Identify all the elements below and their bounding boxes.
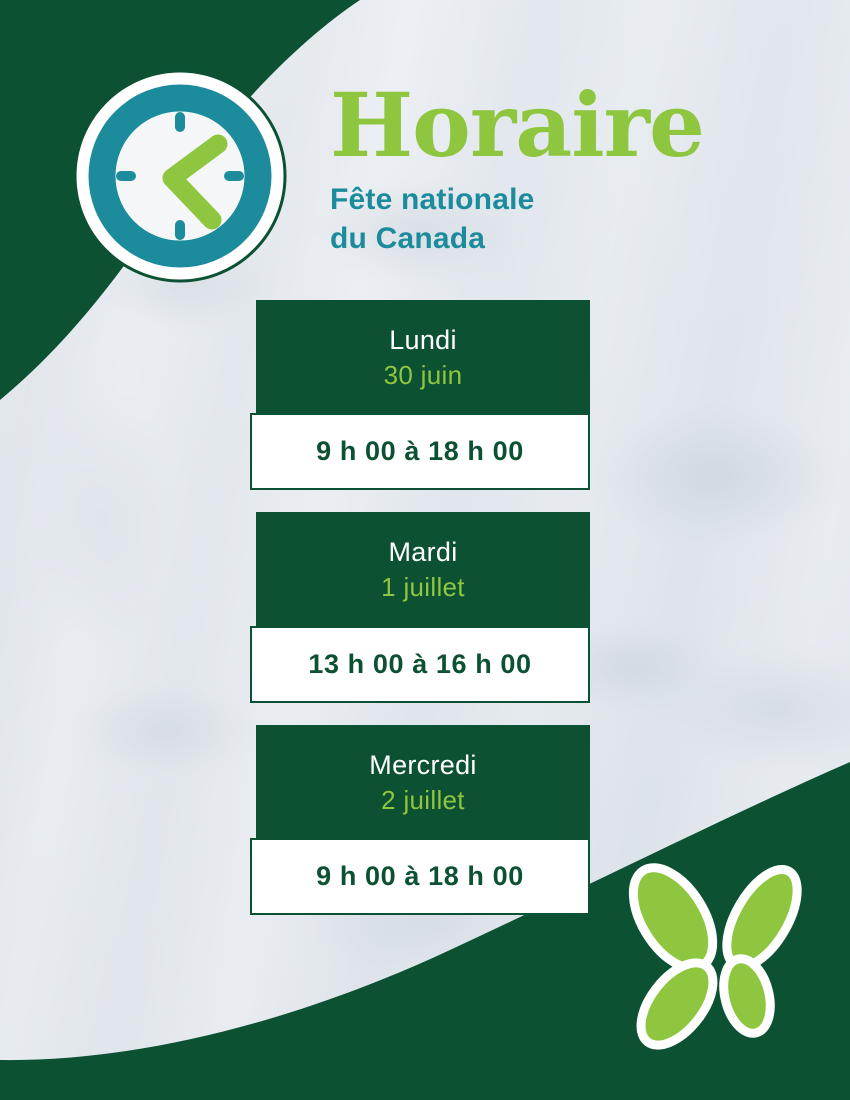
schedule-date-label: 30 juin: [266, 359, 580, 392]
schedule-hours-label: 13 h 00 à 16 h 00: [250, 626, 590, 703]
butterfly-logo-icon: [614, 856, 832, 1064]
butterfly-logo-svg: [614, 856, 832, 1064]
clock-icon: [72, 68, 288, 284]
butterfly-wing-upper-left: [617, 856, 729, 982]
schedule-day-label: Mercredi: [266, 749, 580, 782]
page-subtitle-line2: du Canada: [330, 219, 800, 259]
schedule-card-header: Lundi 30 juin: [256, 300, 590, 413]
clock-icon-svg: [72, 68, 288, 284]
schedule-hours-label: 9 h 00 à 18 h 00: [250, 413, 590, 490]
page-subtitle: Fête nationale du Canada: [330, 180, 800, 260]
butterfly-wing-upper-right: [712, 858, 811, 978]
poster-canvas: Horaire Fête nationale du Canada Lundi 3…: [0, 0, 850, 1100]
schedule-hours-label: 9 h 00 à 18 h 00: [250, 838, 590, 915]
schedule-card-header: Mercredi 2 juillet: [256, 725, 590, 838]
page-subtitle-line1: Fête nationale: [330, 180, 800, 220]
schedule-card: Mercredi 2 juillet 9 h 00 à 18 h 00: [250, 725, 590, 915]
schedule-card: Lundi 30 juin 9 h 00 à 18 h 00: [250, 300, 590, 490]
butterfly-wing-lower-right: [716, 954, 777, 1038]
schedule-date-label: 1 juillet: [266, 571, 580, 604]
poster-header: Horaire Fête nationale du Canada: [0, 0, 850, 290]
schedule-list: Lundi 30 juin 9 h 00 à 18 h 00 Mardi 1 j…: [0, 300, 850, 937]
title-block: Horaire Fête nationale du Canada: [330, 84, 800, 259]
schedule-card: Mardi 1 juillet 13 h 00 à 16 h 00: [250, 512, 590, 702]
schedule-card-header: Mardi 1 juillet: [256, 512, 590, 625]
schedule-day-label: Mardi: [266, 536, 580, 569]
butterfly-wing-lower-left: [627, 950, 727, 1058]
schedule-day-label: Lundi: [266, 324, 580, 357]
schedule-date-label: 2 juillet: [266, 784, 580, 817]
page-title: Horaire: [330, 84, 800, 168]
